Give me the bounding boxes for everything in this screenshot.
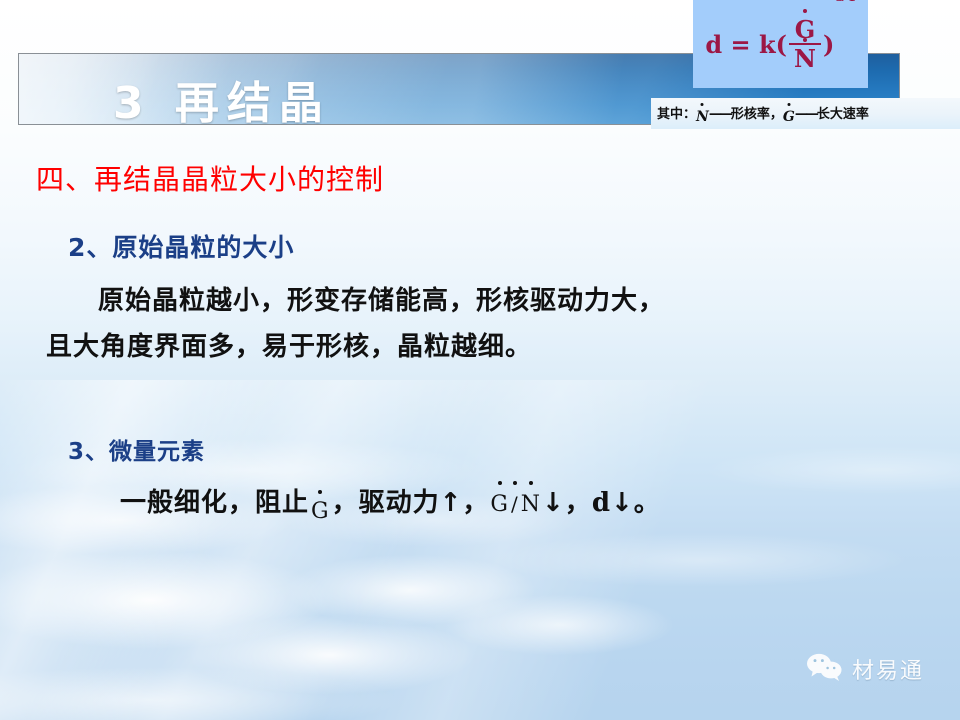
caption-var-n: N — [696, 110, 709, 124]
line-d-label: d — [592, 488, 611, 518]
line-var-g-2: G — [490, 492, 509, 517]
line-period: 。 — [634, 482, 661, 519]
formula-fraction: G N — [788, 18, 822, 71]
arrow-down-icon-1: ↓ — [542, 488, 565, 518]
wechat-icon — [806, 652, 844, 686]
subheading-2: 2、原始晶粒的大小 — [68, 228, 294, 264]
watermark: 材易通 — [806, 652, 924, 686]
formula-lhs: d = k( — [705, 30, 787, 59]
formula-denominator: N — [788, 45, 822, 71]
line-slash: / — [511, 492, 519, 516]
formula-exponent: 3⁄4 — [835, 0, 855, 5]
caption-comma: ， — [770, 107, 783, 122]
caption-dash-2: —— — [795, 107, 817, 122]
body-paragraph: 原始晶粒越小，形变存储能高，形核驱动力大， 且大角度界面多，易于形核，晶粒越细。 — [46, 278, 836, 370]
slide-canvas: 3 再结晶 d = k( G N ) 3⁄4 其中：N——形核率，G——长大速率… — [0, 0, 960, 720]
line-mid-1: ，驱动力 — [332, 482, 440, 519]
line-var-n: N — [521, 492, 541, 517]
formula-caption: 其中：N——形核率，G——长大速率 — [651, 107, 869, 121]
page-title: 3 再结晶 — [113, 82, 331, 125]
line-comma-2: ， — [565, 482, 592, 519]
paragraph-line-1: 原始晶粒越小，形变存储能高，形核驱动力大， — [98, 286, 665, 316]
formula-caption-strip: 其中：N——形核率，G——长大速率 — [651, 98, 960, 129]
section-title: 四、再结晶晶粒大小的控制 — [36, 158, 384, 198]
paragraph-line-2: 且大角度界面多，易于形核，晶粒越细。 — [46, 332, 532, 362]
trace-elements-line: 一般细化，阻止G，驱动力↑，G/N↓，d↓。 — [120, 482, 661, 519]
formula-box: d = k( G N ) 3⁄4 — [693, 0, 868, 88]
line-comma-1: ， — [462, 482, 489, 519]
watermark-text: 材易通 — [852, 653, 924, 685]
arrow-up-icon: ↑ — [440, 488, 463, 518]
caption-label-1: 形核率 — [731, 107, 770, 122]
subheading-3: 3、微量元素 — [68, 432, 205, 466]
caption-dash-1: —— — [709, 107, 731, 122]
line-var-g-1: G — [311, 499, 330, 524]
caption-prefix: 其中： — [657, 107, 696, 122]
caption-var-g: G — [783, 110, 795, 124]
arrow-down-icon-2: ↓ — [611, 488, 634, 518]
caption-label-2: 长大速率 — [817, 107, 869, 122]
line-prefix: 一般细化，阻止 — [120, 482, 309, 519]
formula-expression: d = k( G N ) 3⁄4 — [693, 0, 868, 88]
formula-close-paren: ) — [823, 30, 834, 59]
